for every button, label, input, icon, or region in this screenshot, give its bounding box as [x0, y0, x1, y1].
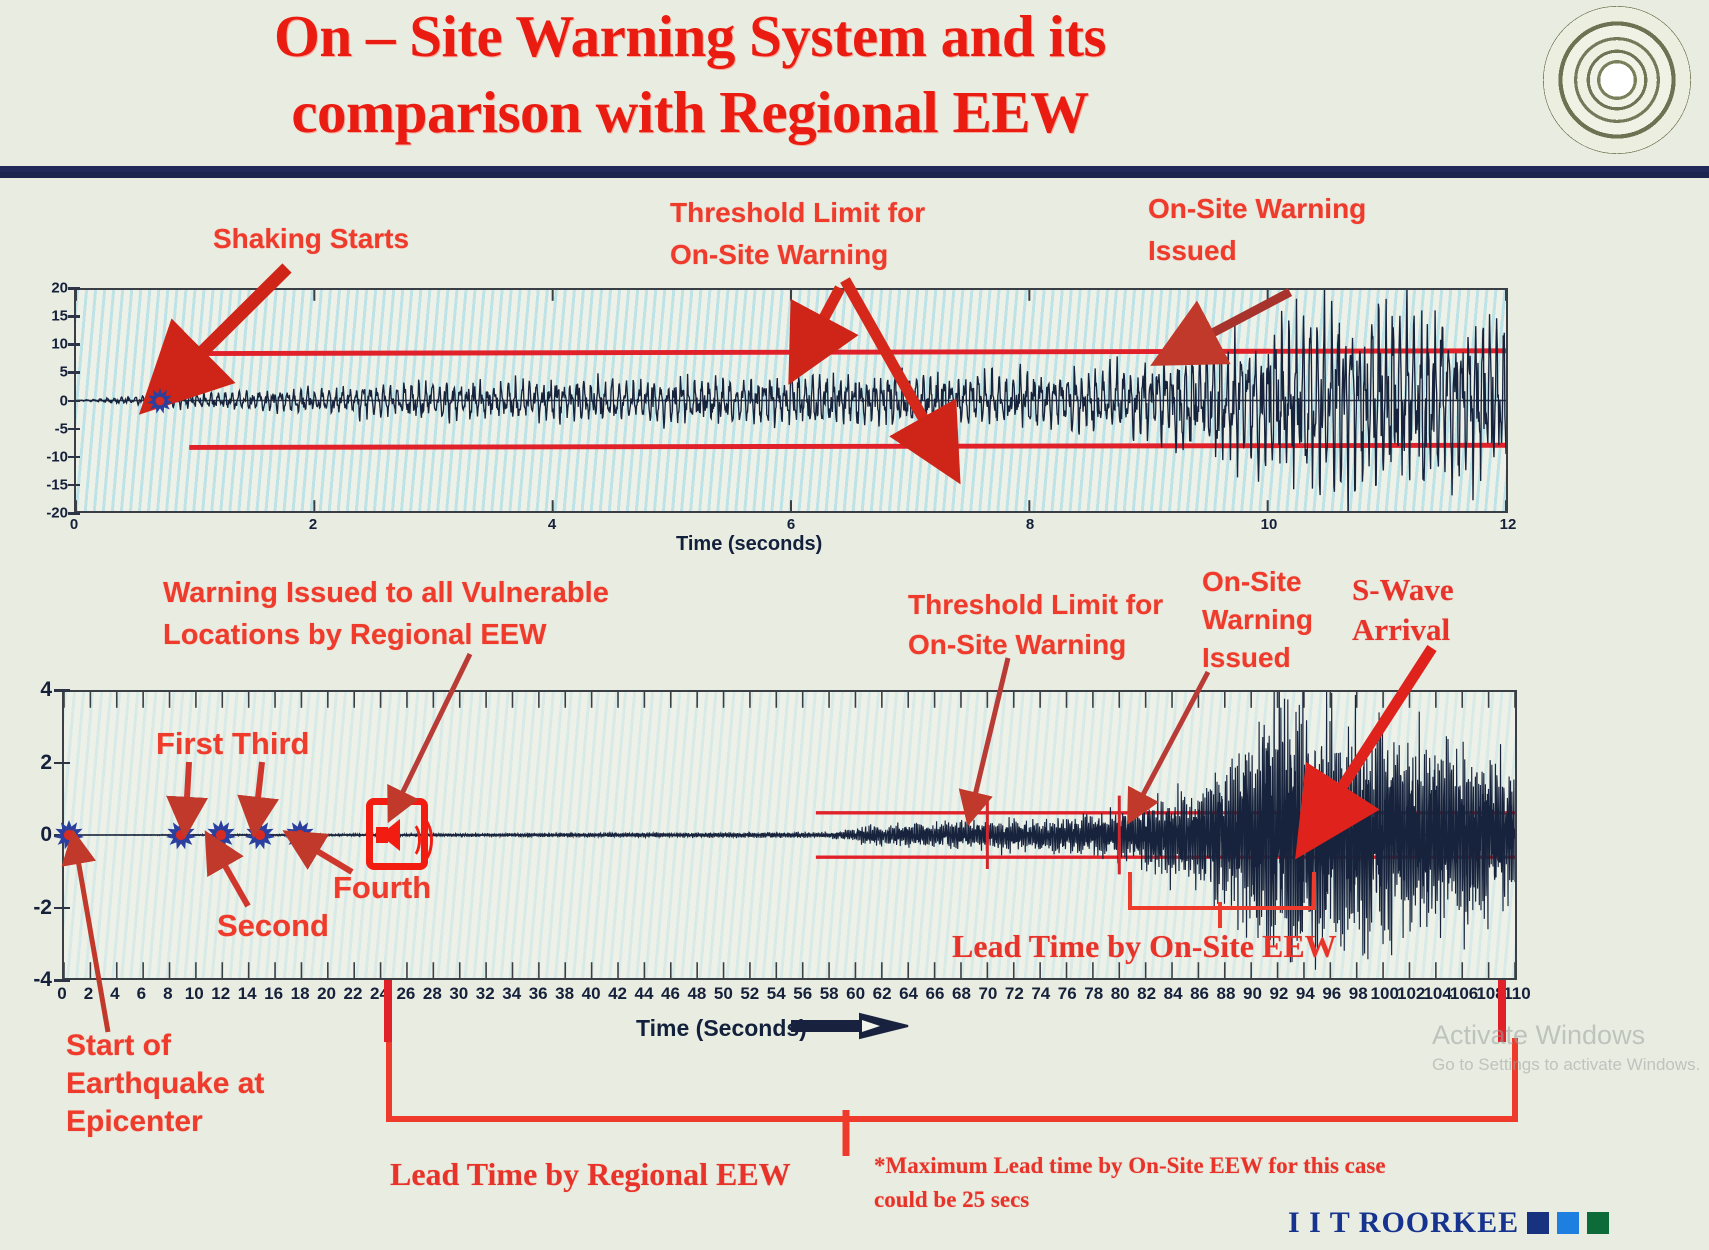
- watermark-line1: Activate Windows: [1432, 1020, 1700, 1051]
- annotation-first: First: [156, 726, 223, 763]
- top-y-tick-mark: [68, 428, 80, 431]
- activate-windows-watermark: Activate Windows Go to Settings to activ…: [1432, 1020, 1700, 1075]
- annotation-footnote-line2: could be 25 secs: [874, 1186, 1029, 1213]
- bottom-x-tick: 70: [978, 984, 997, 1004]
- top-y-tick: 0: [26, 392, 68, 409]
- top-y-tick: -10: [26, 448, 68, 465]
- page-title-line2: comparison with Regional EEW: [0, 78, 1380, 147]
- annotation-swave-line2: Arrival: [1352, 612, 1450, 649]
- annotation-bottom-threshold-line1: Threshold Limit for: [908, 588, 1163, 621]
- iit-roorkee-seal-icon: [1543, 6, 1691, 154]
- lead-time-regional-bracket: [386, 1038, 1518, 1122]
- brand-square-navy: [1527, 1212, 1549, 1234]
- top-y-tick-mark: [68, 315, 80, 318]
- annotation-fourth: Fourth: [333, 870, 431, 907]
- bottom-x-tick: 80: [1111, 984, 1130, 1004]
- bottom-x-tick: 96: [1322, 984, 1341, 1004]
- top-y-tick: 15: [26, 308, 68, 325]
- bottom-x-tick: 0: [57, 984, 66, 1004]
- shaking-start-marker-icon: [147, 388, 173, 414]
- bottom-x-tick: 44: [635, 984, 654, 1004]
- bottom-x-tick: 38: [555, 984, 574, 1004]
- bottom-x-tick: 34: [502, 984, 521, 1004]
- bottom-x-tick: 56: [793, 984, 812, 1004]
- annotation-bottom-threshold-line2: On-Site Warning: [908, 628, 1126, 661]
- bottom-y-tick-mark: [54, 689, 70, 692]
- annotation-top-warning-issued-line1: On-Site Warning: [1148, 192, 1366, 225]
- top-y-tick: -5: [26, 420, 68, 437]
- bottom-x-tick: 2: [84, 984, 93, 1004]
- bottom-x-tick: 82: [1137, 984, 1156, 1004]
- bottom-y-tick: -2: [18, 896, 52, 920]
- bottom-x-tick: 16: [264, 984, 283, 1004]
- bottom-x-tick: 90: [1243, 984, 1262, 1004]
- bottom-x-tick: 52: [740, 984, 759, 1004]
- annotation-second: Second: [217, 908, 329, 945]
- bottom-x-tick: 32: [476, 984, 495, 1004]
- bottom-y-tick: 2: [18, 751, 52, 775]
- top-y-tick-mark: [68, 343, 80, 346]
- top-x-tick: 4: [548, 516, 556, 533]
- annotation-regional-warning-line2: Locations by Regional EEW: [163, 618, 547, 652]
- bottom-x-tick: 94: [1296, 984, 1315, 1004]
- bottom-x-tick: 104: [1423, 984, 1451, 1004]
- bottom-x-tick: 42: [608, 984, 627, 1004]
- event-marker-icon: [206, 820, 236, 850]
- bottom-x-tick: 18: [291, 984, 310, 1004]
- event-marker-icon: [245, 820, 275, 850]
- top-y-tick: -20: [26, 505, 68, 522]
- bottom-x-tick: 6: [137, 984, 146, 1004]
- bottom-x-tick: 106: [1450, 984, 1478, 1004]
- bottom-x-tick: 12: [211, 984, 230, 1004]
- top-x-tick: 8: [1026, 516, 1034, 533]
- bottom-x-tick: 68: [952, 984, 971, 1004]
- top-seismogram-plot: [74, 288, 1508, 513]
- bottom-x-tick: 88: [1217, 984, 1236, 1004]
- annotation-swave-line1: S-Wave: [1352, 572, 1454, 609]
- top-y-tick-mark: [68, 371, 80, 374]
- bottom-x-tick: 46: [661, 984, 680, 1004]
- bottom-x-tick: 10: [185, 984, 204, 1004]
- bottom-x-tick: 36: [529, 984, 548, 1004]
- top-x-tick: 2: [309, 516, 317, 533]
- bottom-x-tick: 78: [1084, 984, 1103, 1004]
- title-banner: On – Site Warning System and its compari…: [0, 0, 1709, 178]
- bottom-x-tick: 54: [767, 984, 786, 1004]
- annotation-regional-warning-line1: Warning Issued to all Vulnerable: [163, 576, 609, 610]
- annotation-start-eq-line3: Epicenter: [66, 1104, 203, 1139]
- top-seismogram-trace: [76, 290, 1506, 511]
- regional-warning-alert-icon: [366, 798, 428, 870]
- top-y-tick: 20: [26, 280, 68, 297]
- annotation-third: Third: [232, 726, 310, 763]
- slide-root: On – Site Warning System and its compari…: [0, 0, 1709, 1250]
- annotation-start-eq-line2: Earthquake at: [66, 1066, 264, 1101]
- bottom-x-tick: 60: [846, 984, 865, 1004]
- bottom-x-tick: 66: [926, 984, 945, 1004]
- top-y-tick-mark: [68, 512, 80, 515]
- bottom-y-tick-mark: [54, 979, 70, 982]
- top-y-tick: -15: [26, 476, 68, 493]
- annotation-shaking-starts: Shaking Starts: [213, 222, 409, 255]
- annotation-lead-time-regional: Lead Time by Regional EEW: [390, 1156, 791, 1194]
- bottom-y-tick-mark: [54, 907, 70, 910]
- annotation-onsite-warning-line3: Issued: [1202, 641, 1291, 674]
- lead-time-onsite-bracket: [1128, 872, 1316, 910]
- bottom-x-tick: 72: [1005, 984, 1024, 1004]
- annotation-start-eq-line1: Start of: [66, 1028, 171, 1063]
- bottom-x-tick: 8: [163, 984, 172, 1004]
- brand-square-green: [1587, 1212, 1609, 1234]
- bottom-x-tick: 14: [238, 984, 257, 1004]
- top-y-tick: 5: [26, 364, 68, 381]
- annotation-lead-time-onsite: Lead Time by On-Site EEW: [952, 928, 1337, 966]
- annotation-top-threshold-line1: Threshold Limit for: [670, 196, 925, 229]
- bottom-y-tick: 4: [18, 678, 52, 702]
- bottom-x-tick: 28: [423, 984, 442, 1004]
- top-chart-xlabel: Time (seconds): [676, 533, 822, 556]
- bottom-x-tick: 4: [110, 984, 119, 1004]
- bottom-x-tick: 22: [344, 984, 363, 1004]
- bottom-y-tick: -4: [18, 968, 52, 992]
- bottom-x-tick: 76: [1058, 984, 1077, 1004]
- bottom-x-tick: 20: [317, 984, 336, 1004]
- event-marker-icon: [166, 820, 196, 850]
- bottom-x-tick: 84: [1164, 984, 1183, 1004]
- bottom-x-tick: 102: [1397, 984, 1425, 1004]
- top-x-tick: 10: [1261, 516, 1278, 533]
- bottom-x-tick: 110: [1503, 984, 1530, 1004]
- regional-eew-time-marker: [384, 980, 392, 1042]
- watermark-line2: Go to Settings to activate Windows.: [1432, 1055, 1700, 1075]
- bottom-x-tick: 92: [1269, 984, 1288, 1004]
- bottom-x-tick: 62: [873, 984, 892, 1004]
- bottom-x-tick: 26: [396, 984, 415, 1004]
- bottom-x-tick: 48: [687, 984, 706, 1004]
- top-y-tick-mark: [68, 484, 80, 487]
- bottom-y-tick: 0: [18, 823, 52, 847]
- top-y-tick-mark: [68, 456, 80, 459]
- brand-square-blue: [1557, 1212, 1579, 1234]
- brand-label: I I T ROORKEE: [1288, 1206, 1519, 1239]
- bottom-x-tick: 74: [1031, 984, 1050, 1004]
- annotation-footnote-line1: *Maximum Lead time by On-Site EEW for th…: [874, 1152, 1386, 1179]
- event-marker-icon: [54, 820, 84, 850]
- top-y-tick-mark: [68, 287, 80, 290]
- bottom-x-tick: 58: [820, 984, 839, 1004]
- bottom-x-tick: 30: [449, 984, 468, 1004]
- annotation-top-threshold-line2: On-Site Warning: [670, 238, 888, 271]
- top-x-tick: 12: [1500, 516, 1517, 533]
- top-y-tick-mark: [68, 400, 80, 403]
- bottom-y-tick-mark: [54, 762, 70, 765]
- top-y-tick: 10: [26, 336, 68, 353]
- page-title-line1: On – Site Warning System and its: [0, 2, 1380, 71]
- top-x-tick: 6: [787, 516, 795, 533]
- annotation-onsite-warning-line1: On-Site: [1202, 565, 1302, 598]
- bottom-x-tick: 50: [714, 984, 733, 1004]
- annotation-top-warning-issued-line2: Issued: [1148, 234, 1237, 267]
- annotation-onsite-warning-line2: Warning: [1202, 603, 1313, 636]
- top-x-tick: 0: [70, 516, 78, 533]
- bottom-x-tick: 40: [582, 984, 601, 1004]
- bottom-x-tick: 86: [1190, 984, 1209, 1004]
- event-marker-icon: [285, 820, 315, 850]
- brand-footer: I I T ROORKEE: [1288, 1206, 1609, 1240]
- bottom-x-tick: 98: [1349, 984, 1368, 1004]
- bottom-x-tick: 100: [1371, 984, 1399, 1004]
- bottom-x-tick: 64: [899, 984, 918, 1004]
